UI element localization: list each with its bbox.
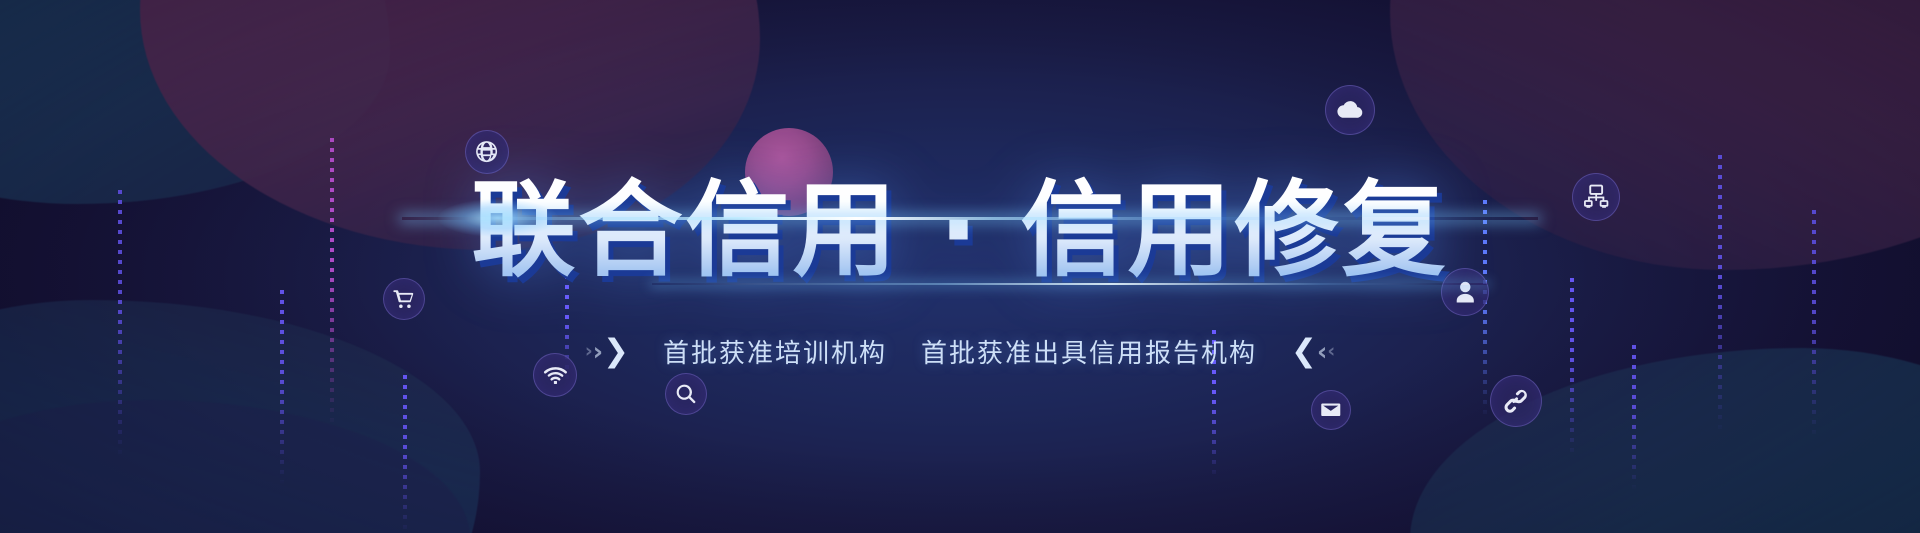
promo-banner: 联合信用 · 信用修复 › › ❯ 首批获准培训机构 首批获准出具信用报告机构 … (0, 0, 1920, 533)
chevron-right-icon-3: ❯ (603, 336, 629, 367)
chevron-left-group: ❮ ‹ ‹ (1291, 336, 1335, 367)
banner-content: 联合信用 · 信用修复 › › ❯ 首批获准培训机构 首批获准出具信用报告机构 … (0, 0, 1920, 533)
chevron-left-icon-1: ❮ (1291, 336, 1317, 367)
title-block: 联合信用 · 信用修复 (472, 171, 1449, 290)
subtitle-right: 首批获准出具信用报告机构 (921, 333, 1257, 370)
chevron-right-group: › › ❯ (585, 336, 629, 367)
page-title: 联合信用 · 信用修复 (472, 171, 1449, 290)
chevron-left-icon-2: ‹ (1317, 339, 1327, 364)
chevron-left-icon-3: ‹ (1327, 342, 1335, 361)
chevron-right-icon-2: › (593, 339, 603, 364)
chevron-right-icon-1: › (585, 342, 593, 361)
subtitle-left: 首批获准培训机构 (663, 333, 887, 370)
subtitle-row: › › ❯ 首批获准培训机构 首批获准出具信用报告机构 ❮ ‹ ‹ (585, 333, 1335, 370)
